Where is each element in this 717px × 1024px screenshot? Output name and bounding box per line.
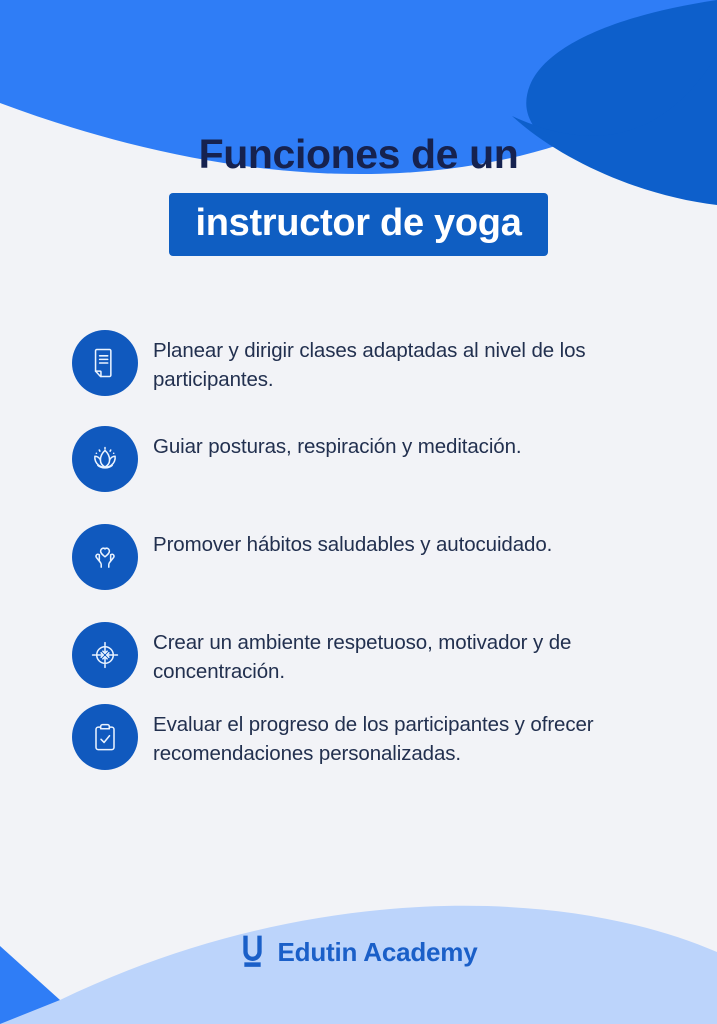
- hands-heart-icon: [72, 524, 138, 590]
- list-item-label: Evaluar el progreso de los participantes…: [153, 704, 672, 768]
- header: Funciones de un instructor de yoga: [0, 132, 717, 256]
- list-item: Evaluar el progreso de los participantes…: [72, 704, 672, 770]
- brand-name: Edutin Academy: [278, 939, 478, 965]
- clipboard-check-icon: [72, 704, 138, 770]
- title-highlight-wrapper: instructor de yoga: [0, 193, 717, 256]
- functions-list: Planear y dirigir clases adaptadas al ni…: [72, 330, 672, 770]
- list-item-label: Planear y dirigir clases adaptadas al ni…: [153, 330, 672, 394]
- edutin-logo-icon: [240, 934, 265, 969]
- footer-branding: Edutin Academy: [0, 934, 717, 969]
- page-subtitle-highlight: instructor de yoga: [169, 193, 547, 256]
- list-item: Promover hábitos saludables y autocuidad…: [72, 524, 672, 590]
- lotus-icon: [72, 426, 138, 492]
- list-item: Guiar posturas, respiración y meditación…: [72, 426, 672, 492]
- list-item-label: Promover hábitos saludables y autocuidad…: [153, 524, 672, 559]
- list-item-label: Guiar posturas, respiración y meditación…: [153, 426, 672, 461]
- document-icon: [72, 330, 138, 396]
- list-item: Planear y dirigir clases adaptadas al ni…: [72, 330, 672, 396]
- page-title: Funciones de un: [0, 132, 717, 177]
- poster: Funciones de un instructor de yoga Plane…: [0, 0, 717, 1024]
- list-item-label: Crear un ambiente respetuoso, motivador …: [153, 622, 672, 686]
- list-item: Crear un ambiente respetuoso, motivador …: [72, 622, 672, 688]
- focus-target-icon: [72, 622, 138, 688]
